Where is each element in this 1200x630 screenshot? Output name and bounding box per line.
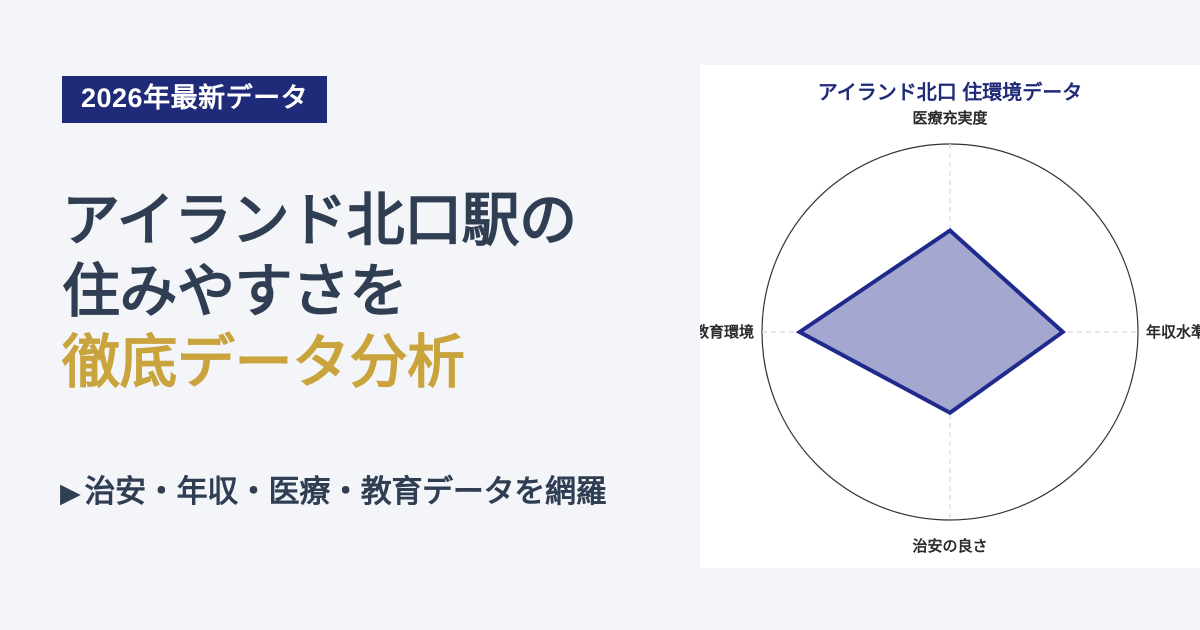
radar-chart: 医療充実度 年収水準 治安の良さ 教育環境 bbox=[700, 65, 1200, 568]
radar-label-right: 年収水準 bbox=[1146, 323, 1200, 341]
radar-chart-card: アイランド北口 住環境データ 医療充実度 年収水準 治安の良さ 教育環境 bbox=[700, 65, 1200, 568]
headline-line-2: 住みやすさを bbox=[62, 257, 702, 328]
radar-label-bottom: 治安の良さ bbox=[912, 537, 987, 555]
page-title: アイランド北口駅の 住みやすさを 徹底データ分析 bbox=[62, 186, 702, 398]
latest-data-badge: 2026年最新データ bbox=[62, 76, 327, 123]
headline-line-1: アイランド北口駅の bbox=[62, 186, 702, 257]
triangle-bullet-icon: ▶ bbox=[60, 478, 80, 508]
headline-line-3-accent: 徹底データ分析 bbox=[62, 328, 702, 399]
subtitle-text: 治安・年収・医療・教育データを網羅 bbox=[84, 474, 606, 509]
radar-label-left: 教育環境 bbox=[700, 323, 754, 341]
subtitle: ▶治安・年収・医療・教育データを網羅 bbox=[60, 466, 606, 511]
radar-label-top: 医療充実度 bbox=[912, 109, 988, 127]
hero-left-pane: 2026年最新データ アイランド北口駅の 住みやすさを 徹底データ分析 ▶治安・… bbox=[0, 0, 700, 630]
radar-data-polygon bbox=[800, 231, 1063, 413]
